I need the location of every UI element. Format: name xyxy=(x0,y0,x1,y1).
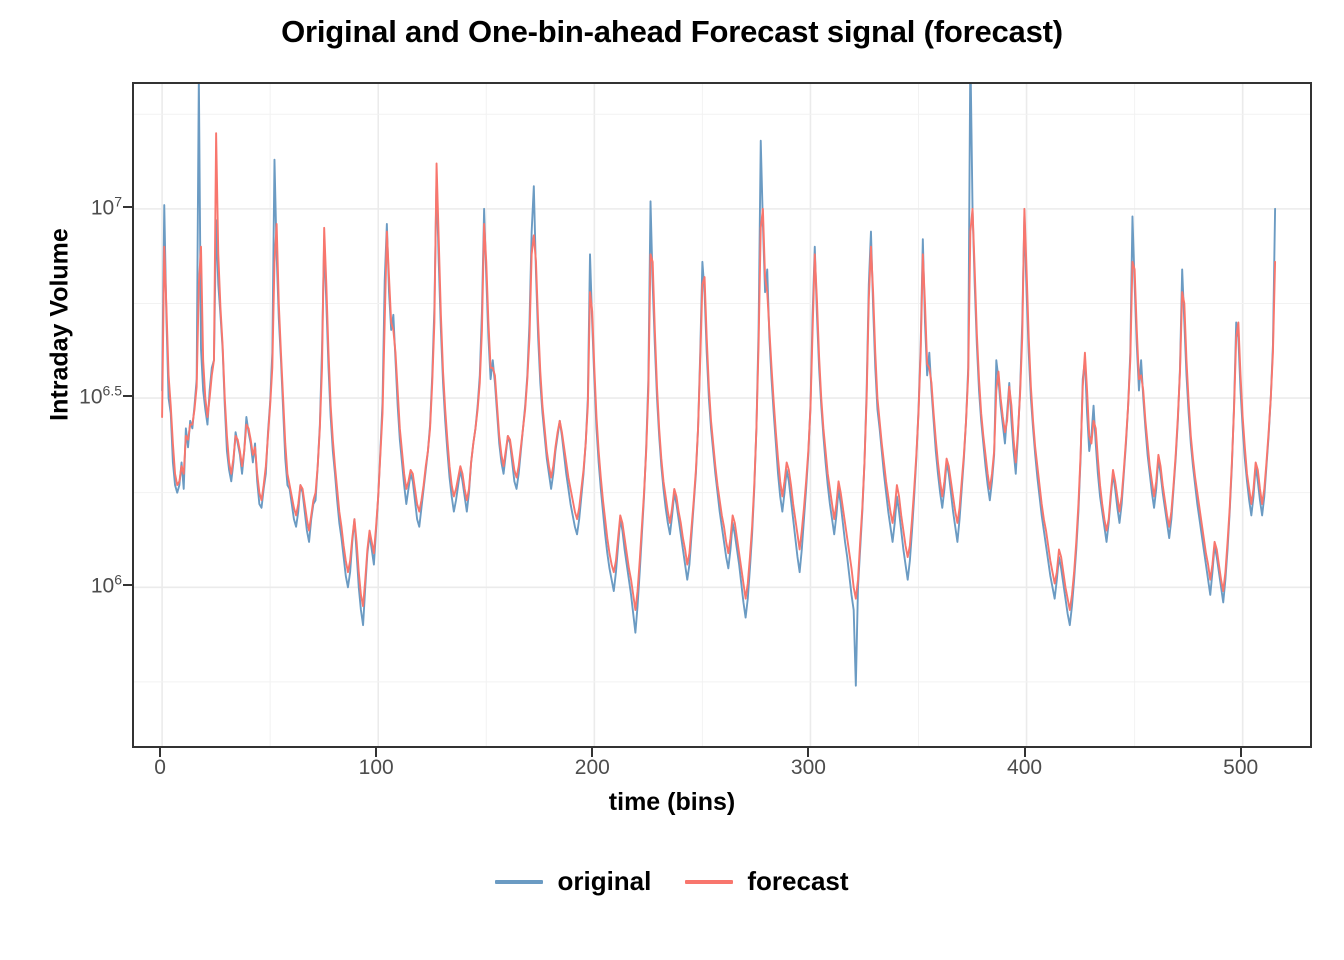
y-tick-label: 107 xyxy=(91,193,122,220)
x-tick-label: 0 xyxy=(154,756,166,780)
x-tick-mark xyxy=(807,748,809,757)
x-tick-label: 200 xyxy=(575,756,610,780)
gridlines xyxy=(134,84,1312,748)
y-axis-label: Intraday Volume xyxy=(46,145,75,505)
x-tick-label: 300 xyxy=(791,756,826,780)
chart-root: Original and One-bin-ahead Forecast sign… xyxy=(0,0,1344,960)
y-tick-mark xyxy=(123,395,132,397)
legend-label-original: original xyxy=(557,866,651,897)
series-canvas xyxy=(134,84,1312,748)
x-tick-mark xyxy=(375,748,377,757)
x-tick-mark xyxy=(591,748,593,757)
x-tick-label: 500 xyxy=(1223,756,1258,780)
legend-key-forecast xyxy=(685,880,733,884)
page-title: Original and One-bin-ahead Forecast sign… xyxy=(0,14,1344,50)
x-tick-label: 100 xyxy=(359,756,394,780)
legend-label-forecast: forecast xyxy=(747,866,848,897)
series-line-forecast xyxy=(162,133,1275,610)
x-tick-mark xyxy=(159,748,161,757)
legend: original forecast xyxy=(0,866,1344,897)
legend-entry-original[interactable]: original xyxy=(495,866,651,897)
y-tick-mark xyxy=(123,584,132,586)
y-tick-label: 106.5 xyxy=(79,383,122,410)
y-tick-label: 106 xyxy=(91,572,122,599)
legend-key-original xyxy=(495,880,543,884)
x-tick-mark xyxy=(1240,748,1242,757)
x-axis-label: time (bins) xyxy=(0,788,1344,817)
plot-area xyxy=(132,82,1312,748)
x-tick-mark xyxy=(1024,748,1026,757)
plot-panel xyxy=(132,82,1312,748)
legend-entry-forecast[interactable]: forecast xyxy=(685,866,848,897)
x-tick-label: 400 xyxy=(1007,756,1042,780)
y-tick-mark xyxy=(123,206,132,208)
